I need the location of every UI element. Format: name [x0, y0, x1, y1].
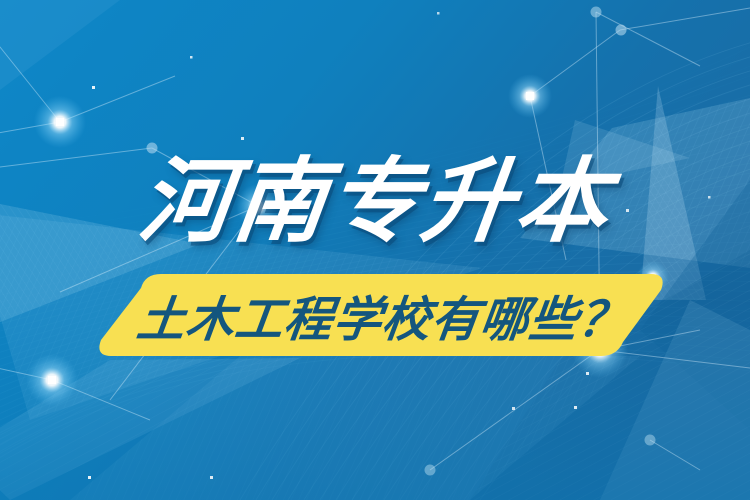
banner-subtitle-text: 土木工程学校有哪些？: [90, 272, 671, 358]
promo-banner: 河南专升本 土木工程学校有哪些？: [0, 0, 750, 500]
abstract-tech-background: [0, 0, 750, 500]
banner-subtitle-ribbon: 土木工程学校有哪些？: [95, 272, 665, 358]
